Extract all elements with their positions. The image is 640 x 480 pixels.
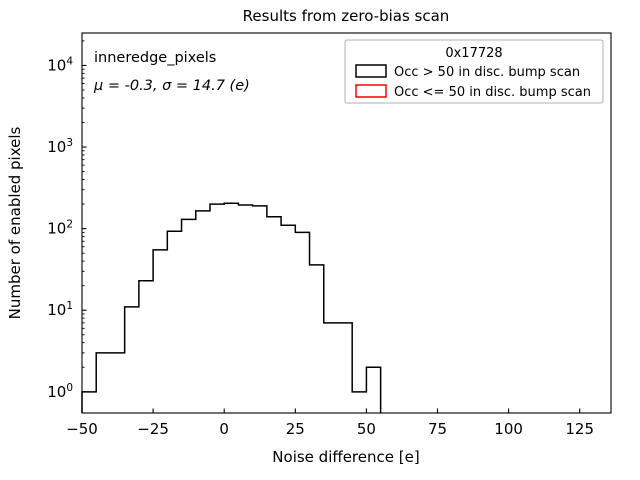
stats-annotation: μ = -0.3, σ = 14.7 (e) [93,78,250,94]
histogram-chart: Results from zero-bias scan −50−25025507… [0,0,640,480]
legend-label-0: Occ > 50 in disc. bump scan [394,65,580,80]
x-tick-label-25: 25 [286,420,305,438]
dataset-label: inneredge_pixels [94,50,216,66]
x-tick-label--50: −50 [66,420,98,438]
x-tick-label-100: 100 [494,420,523,438]
x-tick-label-75: 75 [428,420,447,438]
x-tick-label--25: −25 [137,420,169,438]
x-tick-label-0: 0 [219,420,229,438]
y-axis-minor-ticks [82,41,85,367]
legend-title: 0x17728 [445,46,502,61]
chart-figure: Results from zero-bias scan −50−25025507… [0,0,640,480]
legend[interactable]: 0x17728 Occ > 50 in disc. bump scanOcc <… [345,40,603,103]
y-axis-label: Number of enabled pixels [6,126,24,319]
x-tick-label-50: 50 [357,420,376,438]
x-tick-label-125: 125 [565,420,594,438]
page-title: Results from zero-bias scan [243,7,450,25]
legend-label-1: Occ <= 50 in disc. bump scan [394,85,591,100]
x-axis-label: Noise difference [e] [272,448,419,466]
